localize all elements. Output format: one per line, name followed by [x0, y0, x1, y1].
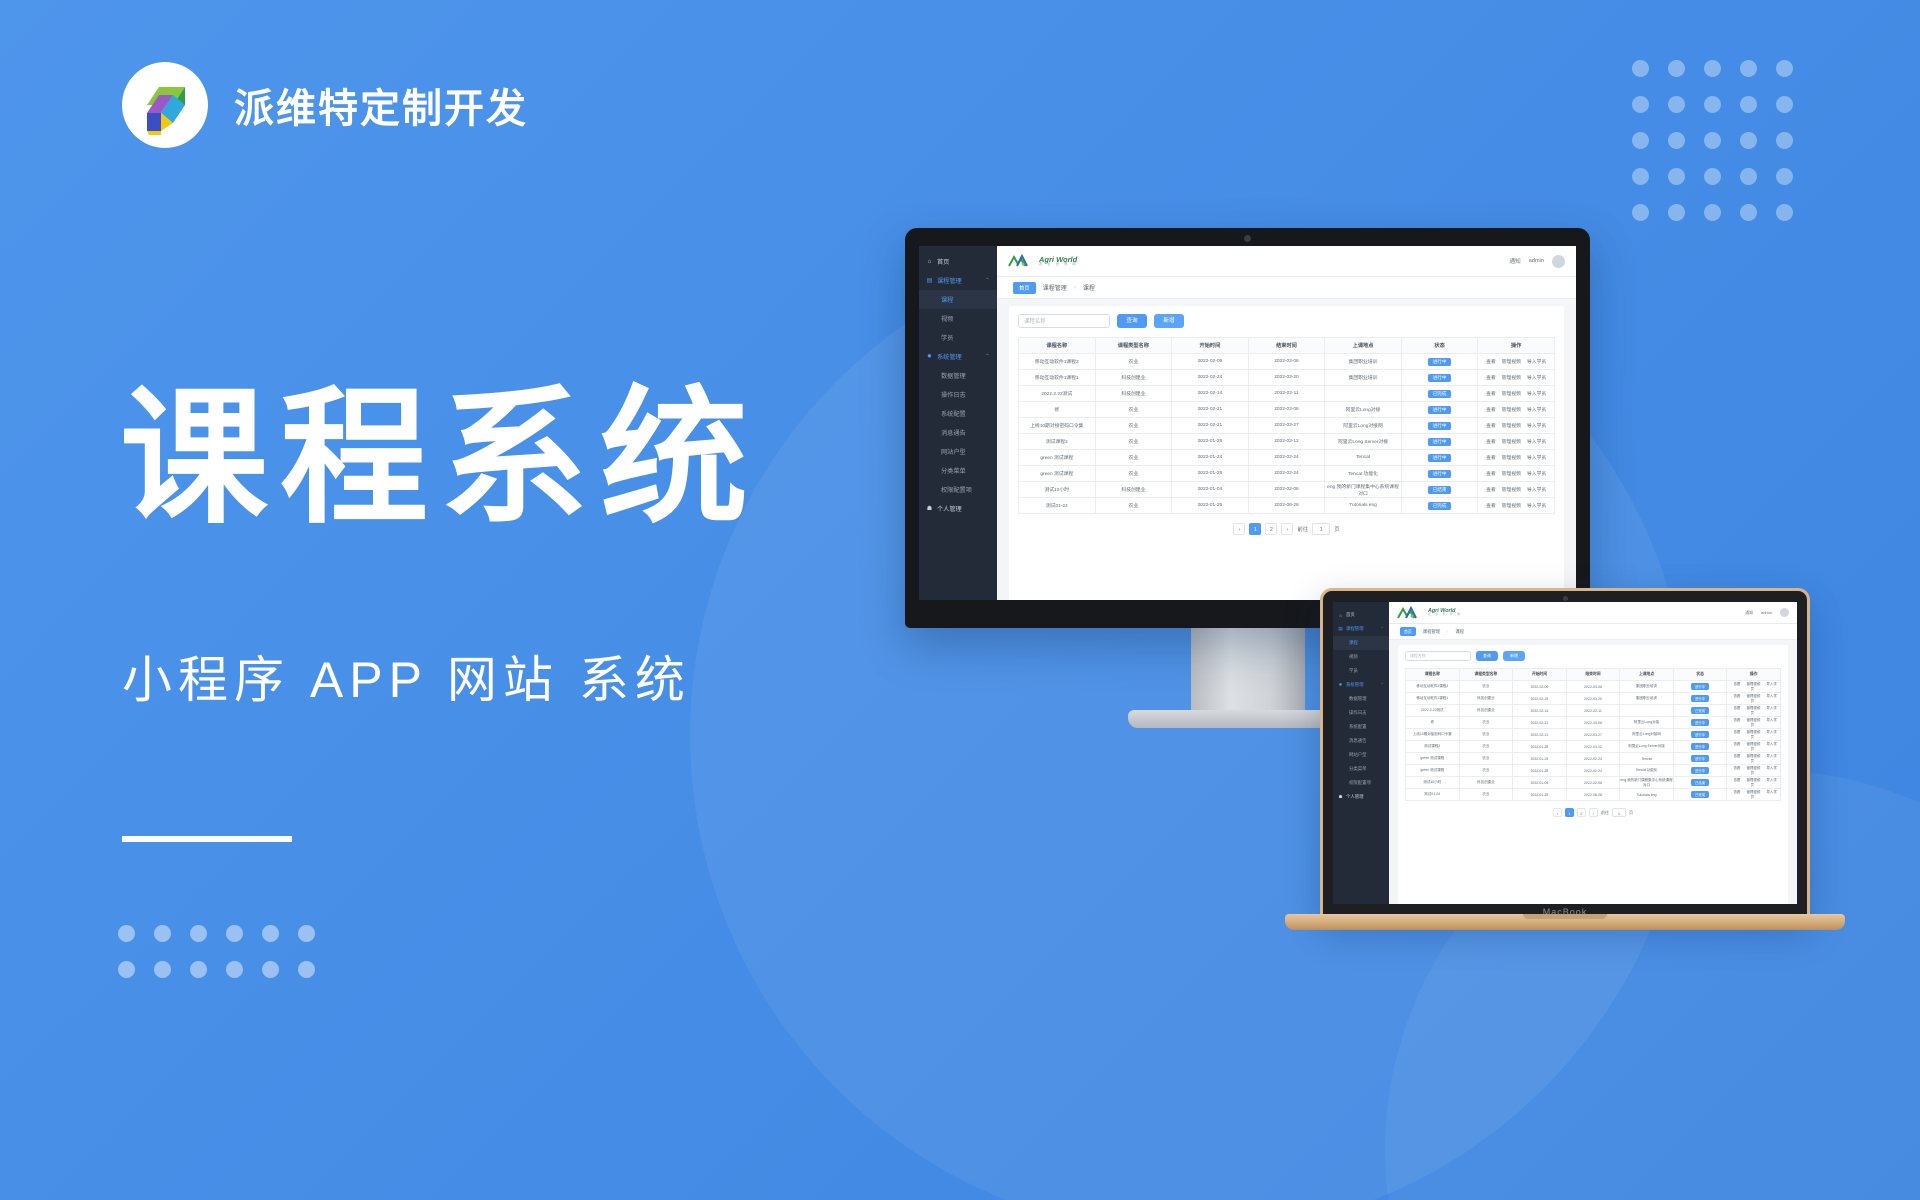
row-action-link[interactable]: 查看 — [1486, 360, 1496, 365]
cell-course-type[interactable]: 农业 — [1095, 402, 1172, 418]
cell-course-name[interactable]: 上线10期对接密码口令集 — [1406, 729, 1460, 741]
cell-status: 进行中 — [1401, 418, 1478, 434]
breadcrumb-parent[interactable]: 课程管理 — [1043, 283, 1067, 292]
cell-end-time: 2022-03-20 — [1248, 370, 1325, 386]
cell-end-time: 2022-03-12 — [1248, 434, 1325, 450]
row-action-link[interactable]: 查看 — [1486, 504, 1496, 509]
pagination-prev-icon[interactable]: ‹ — [1233, 523, 1245, 535]
cell-operations: 查看管理视频导入学员 — [1478, 402, 1555, 418]
decorative-dot — [118, 961, 135, 978]
cell-course-name[interactable]: 移动互动软件1课程2 — [1406, 681, 1460, 693]
sidebar-item-8[interactable]: 系统配置 — [919, 404, 997, 423]
cell-course-name[interactable]: 2022.2.22测试 — [1406, 705, 1460, 717]
cell-course-name[interactable]: 测试课程2 — [1019, 434, 1096, 450]
cell-course-name[interactable]: green 测试课程 — [1406, 765, 1460, 777]
decorative-dot — [118, 925, 135, 942]
row-action-link[interactable]: 查看 — [1486, 424, 1496, 429]
cell-course-name[interactable]: green 测试课程 — [1406, 753, 1460, 765]
cell-start-time: 2022-02-24 — [1172, 370, 1249, 386]
sidebar-item-12[interactable]: 权限配置项 — [919, 480, 997, 499]
cell-start-time: 2022-02-09 — [1172, 354, 1249, 370]
pagination-next-icon[interactable]: › — [1281, 523, 1293, 535]
decorative-dot — [1632, 132, 1649, 149]
pagination-page-1[interactable]: 1 — [1565, 808, 1574, 817]
sidebar-item-9[interactable]: 消息通告 — [1333, 734, 1389, 748]
row-action-link[interactable]: 查看 — [1733, 742, 1740, 746]
row-action-link[interactable]: 管理视频 — [1746, 718, 1760, 722]
cell-start-time: 2022-02-21 — [1513, 729, 1567, 741]
brand-lockup: 派维特定制开发 — [122, 62, 528, 148]
sidebar-item-label: 视频 — [1349, 654, 1358, 660]
cell-course-name[interactable]: green 测试课程 — [1019, 450, 1096, 466]
row-action-link[interactable]: 管理视频 — [1502, 408, 1521, 413]
cell-course-type[interactable]: 科技创建业 — [1459, 693, 1513, 705]
decorative-dot — [1632, 168, 1649, 185]
cell-course-type[interactable]: 农业 — [1095, 450, 1172, 466]
decorative-dot — [298, 925, 315, 942]
cell-status: 进行中 — [1673, 753, 1727, 765]
search-button[interactable]: 查询 — [1476, 651, 1498, 661]
pivot-play-logo-icon — [122, 62, 208, 148]
decorative-dot — [1668, 168, 1685, 185]
row-action-link[interactable]: 查看 — [1486, 392, 1496, 397]
row-action-link[interactable]: 导入学员 — [1527, 360, 1546, 365]
cell-course-name[interactable]: 2022.2.22测试 — [1019, 386, 1096, 402]
row-action-link[interactable]: 管理视频 — [1502, 440, 1521, 445]
breadcrumb-parent[interactable]: 课程管理 — [1423, 629, 1440, 635]
content-card: 课程名称查询新增课程名称课程类型名称开始时间结束时间上课地点状态操作移动互动软件… — [1009, 306, 1564, 600]
course-table: 课程名称课程类型名称开始时间结束时间上课地点状态操作移动互动软件1课程2农业20… — [1405, 668, 1781, 801]
cell-course-type[interactable]: 农业 — [1459, 765, 1513, 777]
sidebar-item-label: 分类菜单 — [941, 466, 966, 475]
chevron-up-icon[interactable]: ⌃ — [1380, 626, 1384, 632]
pagination: ‹12›前往1页 — [1018, 523, 1555, 535]
search-input-text: 课程名称 — [1410, 653, 1426, 659]
search-input[interactable]: 课程名称 — [1018, 314, 1110, 328]
filter-bar: 课程名称查询新增 — [1018, 314, 1555, 328]
cell-end-time: 2022-06-28 — [1566, 789, 1620, 801]
row-action-link[interactable]: 管理视频 — [1502, 456, 1521, 461]
gear-icon: ✸ — [926, 353, 933, 360]
sidebar-item-label: 系统配置 — [1349, 724, 1367, 730]
notice-label[interactable]: 通知 — [1745, 610, 1753, 616]
breadcrumb-current: 课程 — [1083, 283, 1095, 292]
cell-course-name[interactable]: 测试课程2 — [1406, 741, 1460, 753]
status-badge: 进行中 — [1428, 422, 1452, 430]
desktop-monitor-mockup: ⌂首页▤课程管理⌃课程视频学员✸系统管理⌃数据管理操作日志系统配置消息通告网站户… — [905, 228, 1590, 628]
row-action-link[interactable]: 查看 — [1486, 488, 1496, 493]
user-avatar-icon[interactable] — [1780, 608, 1789, 617]
status-badge: 进行中 — [1691, 683, 1709, 690]
pagination: ‹12›前往1页 — [1405, 808, 1781, 817]
sidebar-item-0[interactable]: ⌂首页 — [1333, 608, 1389, 622]
cell-place: 阿里云Long对接网 — [1620, 729, 1674, 741]
cell-place: Tencat 功能化 — [1325, 466, 1402, 482]
cell-operations: 查看管理视频导入学员 — [1478, 450, 1555, 466]
user-label[interactable]: admin — [1529, 258, 1544, 264]
cell-place: 集团职业培训 — [1620, 693, 1674, 705]
status-badge: 进行中 — [1691, 695, 1709, 702]
cell-status: 已完成 — [1673, 789, 1727, 801]
decorative-dot — [1704, 96, 1721, 113]
sidebar-item-label: 学员 — [1349, 668, 1358, 674]
cell-operations: 查看管理视频导入学员 — [1478, 466, 1555, 482]
sidebar-item-2[interactable]: 课程 — [1333, 636, 1389, 650]
add-button[interactable]: 新增 — [1154, 314, 1184, 328]
course-table: 课程名称课程类型名称开始时间结束时间上课地点状态操作移动互动软件1课程2农业20… — [1018, 337, 1555, 514]
table-row: 测试01-24农业2022-01-252022-06-28Tutorials e… — [1019, 498, 1555, 514]
cell-course-name[interactable]: 移动互动软件1课程1 — [1019, 370, 1096, 386]
cell-course-name[interactable]: 上线10期对接密码口令集 — [1019, 418, 1096, 434]
cell-operations: 查看管理视频导入学员 — [1727, 729, 1781, 741]
table-row: 2022.2.22测试科技创建业2022-02-142022-02-11已完成查… — [1019, 386, 1555, 402]
cell-course-type[interactable]: 科技创建业 — [1095, 482, 1172, 498]
cell-status: 进行中 — [1673, 693, 1727, 705]
decorative-dot — [262, 925, 279, 942]
chevron-up-icon[interactable]: ⌃ — [985, 353, 990, 360]
table-row: 测试课程2农业2022-01-282022-03-12阿里云Long Serve… — [1019, 434, 1555, 450]
cell-course-name[interactable]: 修 — [1406, 717, 1460, 729]
app-logo-cn: 农 业 世 界 网 — [1039, 263, 1078, 266]
cell-course-type[interactable]: 农业 — [1459, 729, 1513, 741]
row-action-link[interactable]: 导入学员 — [1527, 424, 1546, 429]
sidebar-item-4[interactable]: 学员 — [919, 328, 997, 347]
table-row: 上线10期对接密码口令集农业2022-02-212022-03-27阿里云Lon… — [1406, 729, 1781, 741]
cell-course-name[interactable]: 测试10小时 — [1406, 777, 1460, 789]
sidebar-item-label: 分类菜单 — [1349, 766, 1367, 772]
row-action-link[interactable]: 导入学员 — [1527, 472, 1546, 477]
row-action-link[interactable]: 查看 — [1733, 778, 1740, 782]
notice-label[interactable]: 通知 — [1510, 257, 1521, 265]
cell-operations: 查看管理视频导入学员 — [1478, 386, 1555, 402]
decorative-dot — [154, 961, 171, 978]
cell-place: 阿里云Long Server对接 — [1620, 741, 1674, 753]
page-subtitle: 小程序 APP 网站 系统 — [122, 640, 691, 712]
row-action-link[interactable]: 导入学员 — [1527, 408, 1546, 413]
row-action-link[interactable]: 管理视频 — [1502, 488, 1521, 493]
cell-start-time: 2022-02-14 — [1172, 386, 1249, 402]
cell-operations: 查看管理视频导入学员 — [1478, 354, 1555, 370]
cell-operations: 查看管理视频导入学员 — [1727, 777, 1781, 789]
sidebar-item-13[interactable]: ☗个人管理 — [919, 499, 997, 518]
sidebar-item-0[interactable]: ⌂首页 — [919, 252, 997, 271]
table-column-header: 状态 — [1401, 338, 1478, 354]
sidebar-item-11[interactable]: 分类菜单 — [919, 461, 997, 480]
cell-course-type[interactable]: 农业 — [1459, 753, 1513, 765]
row-action-link[interactable]: 管理视频 — [1502, 424, 1521, 429]
cell-place: 集团职业培训 — [1325, 354, 1402, 370]
cell-status: 已结束 — [1401, 482, 1478, 498]
cell-operations: 查看管理视频导入学员 — [1727, 693, 1781, 705]
cell-place: eng 我的新门课程集中心系统课程对口 — [1620, 777, 1674, 789]
row-action-link[interactable]: 查看 — [1486, 376, 1496, 381]
table-column-header: 开始时间 — [1172, 338, 1249, 354]
pagination-page-2[interactable]: 2 — [1577, 808, 1586, 817]
cell-place — [1620, 705, 1674, 717]
sidebar-item-label: 系统管理 — [1346, 682, 1364, 688]
monitor-screen: ⌂首页▤课程管理⌃课程视频学员✸系统管理⌃数据管理操作日志系统配置消息通告网站户… — [919, 246, 1576, 600]
laptop-mockup: ⌂首页▤课程管理⌃课程视频学员✸系统管理⌃数据管理操作日志系统配置消息通告网站户… — [1285, 588, 1845, 948]
pagination-next-icon[interactable]: › — [1589, 808, 1598, 817]
cell-start-time: 2022-01-24 — [1172, 450, 1249, 466]
app-sidebar: ⌂首页▤课程管理⌃课程视频学员✸系统管理⌃数据管理操作日志系统配置消息通告网站户… — [1333, 602, 1389, 904]
breadcrumb-home-tag[interactable]: 首页 — [1400, 627, 1416, 636]
table-column-header: 结束时间 — [1248, 338, 1325, 354]
cell-status: 进行中 — [1673, 717, 1727, 729]
row-action-link[interactable]: 管理视频 — [1746, 778, 1760, 782]
cell-course-type[interactable]: 农业 — [1095, 418, 1172, 434]
cell-place: 阿里云Long对接网 — [1325, 418, 1402, 434]
row-action-link[interactable]: 查看 — [1733, 706, 1740, 710]
pagination-goto-label: 前往 — [1601, 810, 1609, 816]
row-action-link[interactable]: 管理视频 — [1746, 790, 1760, 794]
cell-status: 已结束 — [1673, 777, 1727, 789]
row-action-link[interactable]: 管理视频 — [1502, 376, 1521, 381]
row-action-link[interactable]: 查看 — [1733, 790, 1740, 794]
table-header-row: 课程名称课程类型名称开始时间结束时间上课地点状态操作 — [1019, 338, 1555, 354]
cell-operations: 查看管理视频导入学员 — [1478, 418, 1555, 434]
cell-course-type[interactable]: 农业 — [1459, 681, 1513, 693]
table-row: 2022.2.22测试科技创建业2022-02-142022-02-11已完成查… — [1406, 705, 1781, 717]
cell-operations: 查看管理视频导入学员 — [1727, 789, 1781, 801]
pagination-goto-suffix: 页 — [1629, 810, 1633, 816]
cell-status: 进行中 — [1401, 434, 1478, 450]
laptop-notch — [1523, 914, 1607, 919]
cell-course-type[interactable]: 农业 — [1459, 717, 1513, 729]
status-badge: 进行中 — [1428, 374, 1452, 382]
sidebar-item-11[interactable]: 分类菜单 — [1333, 762, 1389, 776]
row-action-link[interactable]: 查看 — [1733, 682, 1740, 686]
row-action-link[interactable]: 导入学员 — [1527, 376, 1546, 381]
sidebar-item-5[interactable]: ✸系统管理⌃ — [919, 347, 997, 366]
row-action-link[interactable]: 查看 — [1486, 408, 1496, 413]
row-action-link[interactable]: 查看 — [1486, 440, 1496, 445]
app-main: Agri World农 业 世 界 网通知admin首页课程管理›课程课程名称查… — [1389, 602, 1797, 904]
sidebar-item-10[interactable]: 网站户型 — [1333, 748, 1389, 762]
sidebar-item-label: 个人管理 — [1346, 794, 1364, 800]
cell-end-time: 2022-02-06 — [1566, 777, 1620, 789]
row-action-link[interactable]: 管理视频 — [1502, 472, 1521, 477]
user-avatar-icon[interactable] — [1552, 255, 1565, 268]
add-button[interactable]: 新增 — [1503, 651, 1525, 661]
row-action-link[interactable]: 查看 — [1733, 766, 1740, 770]
cell-operations: 查看管理视频导入学员 — [1478, 434, 1555, 450]
decorative-dot — [1740, 96, 1757, 113]
row-action-link[interactable]: 查看 — [1733, 718, 1740, 722]
cell-course-name[interactable]: green 测试课程 — [1019, 466, 1096, 482]
pagination-page-1[interactable]: 1 — [1249, 523, 1261, 535]
table-row: 移动互动软件1课程2农业2022-02-092022-03-06集团职业培训进行… — [1406, 681, 1781, 693]
gear-icon: ✸ — [1338, 683, 1343, 688]
table-row: green 测试课程农业2022-01-282022-02-24Tencat 功… — [1019, 466, 1555, 482]
cell-course-type[interactable]: 科技创建业 — [1095, 370, 1172, 386]
row-action-link[interactable]: 查看 — [1733, 694, 1740, 698]
decorative-dot — [190, 925, 207, 942]
row-action-link[interactable]: 导入学员 — [1527, 488, 1546, 493]
pagination-goto-input[interactable]: 1 — [1612, 808, 1626, 817]
sidebar-item-label: 个人管理 — [937, 504, 962, 513]
row-action-link[interactable]: 管理视频 — [1746, 742, 1760, 746]
sidebar-item-10[interactable]: 网站户型 — [919, 442, 997, 461]
sidebar-item-2[interactable]: 课程 — [919, 290, 997, 309]
sidebar-item-8[interactable]: 系统配置 — [1333, 720, 1389, 734]
row-action-link[interactable]: 管理视频 — [1746, 730, 1760, 734]
sidebar-item-7[interactable]: 操作日志 — [919, 385, 997, 404]
sidebar-item-5[interactable]: ✸系统管理⌃ — [1333, 678, 1389, 692]
cell-start-time: 2022-02-09 — [1513, 681, 1567, 693]
row-action-link[interactable]: 管理视频 — [1746, 682, 1760, 686]
table-column-header: 上课地点 — [1325, 338, 1402, 354]
row-action-link[interactable]: 管理视频 — [1502, 360, 1521, 365]
breadcrumb-home-tag[interactable]: 首页 — [1013, 282, 1036, 294]
row-action-link[interactable]: 管理视频 — [1746, 706, 1760, 710]
sidebar-item-3[interactable]: 视频 — [919, 309, 997, 328]
cell-place: 阿里云Long对接 — [1325, 402, 1402, 418]
cell-place: eng 我的新门课程集中心系统课程对口 — [1325, 482, 1402, 498]
cell-course-name[interactable]: 移动互动软件1课程2 — [1019, 354, 1096, 370]
row-action-link[interactable]: 管理视频 — [1502, 392, 1521, 397]
row-action-link[interactable]: 导入学员 — [1527, 440, 1546, 445]
row-action-link[interactable]: 查看 — [1733, 754, 1740, 758]
sidebar-item-6[interactable]: 数据管理 — [919, 366, 997, 385]
row-action-link[interactable]: 查看 — [1733, 730, 1740, 734]
cell-course-name[interactable]: 移动互动软件1课程1 — [1406, 693, 1460, 705]
sidebar-item-label: 学员 — [941, 333, 953, 342]
cell-place: 阿里云Long Server对接 — [1325, 434, 1402, 450]
cell-course-name[interactable]: 测试01-24 — [1019, 498, 1096, 514]
decorative-dot — [1668, 60, 1685, 77]
filter-bar: 课程名称查询新增 — [1405, 651, 1781, 661]
table-column-header: 上课地点 — [1620, 669, 1674, 681]
row-action-link[interactable]: 管理视频 — [1502, 504, 1521, 509]
sidebar-item-1[interactable]: ▤课程管理⌃ — [1333, 622, 1389, 636]
cell-place: Tencat — [1620, 753, 1674, 765]
chevron-right-icon: › — [1074, 285, 1076, 291]
table-column-header: 操作 — [1727, 669, 1781, 681]
app-topbar: Agri World农 业 世 界 网通知admin — [1389, 602, 1797, 624]
sidebar-item-label: 课程 — [1349, 640, 1358, 646]
row-action-link[interactable]: 查看 — [1486, 456, 1496, 461]
app-main: Agri World农 业 世 界 网通知admin首页课程管理›课程课程名称查… — [997, 246, 1576, 600]
row-action-link[interactable]: 管理视频 — [1746, 766, 1760, 770]
pagination-page-2[interactable]: 2 — [1265, 523, 1277, 535]
admin-app-desktop: ⌂首页▤课程管理⌃课程视频学员✸系统管理⌃数据管理操作日志系统配置消息通告网站户… — [919, 246, 1576, 600]
row-action-link[interactable]: 导入学员 — [1527, 392, 1546, 397]
cell-start-time: 2022-01-25 — [1172, 498, 1249, 514]
table-column-header: 结束时间 — [1566, 669, 1620, 681]
cell-course-name[interactable]: 修 — [1019, 402, 1096, 418]
cell-start-time: 2022-01-28 — [1513, 741, 1567, 753]
cell-course-type[interactable]: 科技创建业 — [1459, 777, 1513, 789]
decorative-dot — [1704, 204, 1721, 221]
row-action-link[interactable]: 查看 — [1486, 472, 1496, 477]
pagination-prev-icon[interactable]: ‹ — [1553, 808, 1562, 817]
book-icon: ▤ — [926, 277, 933, 284]
cell-place — [1325, 386, 1402, 402]
agri-world-mark-icon — [1008, 254, 1034, 268]
decorative-dot — [1740, 60, 1757, 77]
cell-place: Tencat — [1325, 450, 1402, 466]
user-icon: ☗ — [926, 505, 933, 512]
cell-course-type[interactable]: 农业 — [1095, 354, 1172, 370]
row-action-link[interactable]: 导入学员 — [1527, 456, 1546, 461]
cell-course-type[interactable]: 农业 — [1095, 466, 1172, 482]
user-label[interactable]: admin — [1761, 610, 1772, 615]
user-icon: ☗ — [1338, 795, 1343, 800]
cell-course-type[interactable]: 科技创建业 — [1459, 705, 1513, 717]
cell-status: 进行中 — [1673, 765, 1727, 777]
table-row: 测试课程2农业2022-01-282022-03-12阿里云Long Serve… — [1406, 741, 1781, 753]
cell-course-type[interactable]: 农业 — [1459, 789, 1513, 801]
cell-status: 进行中 — [1401, 402, 1478, 418]
cell-course-type[interactable]: 农业 — [1459, 741, 1513, 753]
sidebar-item-13[interactable]: ☗个人管理 — [1333, 790, 1389, 804]
app-logo: Agri World农 业 世 界 网 — [1008, 254, 1078, 268]
cell-start-time: 2022-01-24 — [1513, 753, 1567, 765]
breadcrumb: 首页课程管理›课程 — [1389, 624, 1797, 640]
sidebar-item-6[interactable]: 数据管理 — [1333, 692, 1389, 706]
sidebar-item-4[interactable]: 学员 — [1333, 664, 1389, 678]
sidebar-item-label: 数据管理 — [1349, 696, 1367, 702]
cell-status: 已完成 — [1401, 386, 1478, 402]
row-action-link[interactable]: 管理视频 — [1746, 694, 1760, 698]
cell-course-name[interactable]: 测试01-24 — [1406, 789, 1460, 801]
app-topbar: Agri World农 业 世 界 网通知admin — [997, 246, 1576, 277]
decorative-dot — [1704, 60, 1721, 77]
sidebar-item-label: 系统配置 — [941, 409, 966, 418]
sidebar-item-label: 课程管理 — [1346, 626, 1364, 632]
agri-world-mark-icon — [1397, 606, 1423, 620]
chevron-up-icon[interactable]: ⌃ — [985, 277, 990, 284]
cell-operations: 查看管理视频导入学员 — [1478, 482, 1555, 498]
sidebar-item-label: 权限配置项 — [1349, 780, 1371, 786]
status-badge: 进行中 — [1691, 719, 1709, 726]
status-badge: 进行中 — [1691, 731, 1709, 738]
search-input[interactable]: 课程名称 — [1405, 651, 1471, 661]
laptop-camera-icon — [1563, 596, 1568, 601]
table-row: green 测试课程农业2022-01-242022-02-24Tencat进行… — [1019, 450, 1555, 466]
cell-status: 进行中 — [1401, 450, 1478, 466]
chevron-up-icon[interactable]: ⌃ — [1380, 682, 1384, 688]
row-action-link[interactable]: 导入学员 — [1527, 504, 1546, 509]
cell-place: Tencat 功能化 — [1620, 765, 1674, 777]
cell-place: Tutorials eng — [1620, 789, 1674, 801]
cell-course-type[interactable]: 农业 — [1095, 498, 1172, 514]
sidebar-item-12[interactable]: 权限配置项 — [1333, 776, 1389, 790]
topbar-right: 通知admin — [1510, 255, 1565, 268]
sidebar-item-3[interactable]: 视频 — [1333, 650, 1389, 664]
table-column-header: 课程名称 — [1019, 338, 1096, 354]
cell-course-type[interactable]: 农业 — [1095, 434, 1172, 450]
table-row: 测试01-24农业2022-01-252022-06-28Tutorials e… — [1406, 789, 1781, 801]
row-action-link[interactable]: 管理视频 — [1746, 754, 1760, 758]
cell-course-name[interactable]: 测试10小时 — [1019, 482, 1096, 498]
pagination-goto-input[interactable]: 1 — [1312, 523, 1330, 535]
table-row: 上线10期对接密码口令集农业2022-02-212022-03-27阿里云Lon… — [1019, 418, 1555, 434]
sidebar-item-1[interactable]: ▤课程管理⌃ — [919, 271, 997, 290]
cell-end-time: 2022-02-06 — [1248, 482, 1325, 498]
sidebar-item-7[interactable]: 操作日志 — [1333, 706, 1389, 720]
sidebar-item-9[interactable]: 消息通告 — [919, 423, 997, 442]
cell-end-time: 2022-03-12 — [1566, 741, 1620, 753]
cell-course-type[interactable]: 科技创建业 — [1095, 386, 1172, 402]
status-badge: 进行中 — [1691, 767, 1709, 774]
cell-end-time: 2022-06-28 — [1248, 498, 1325, 514]
table-column-header: 操作 — [1478, 338, 1555, 354]
search-button[interactable]: 查询 — [1117, 314, 1147, 328]
sidebar-item-label: 首页 — [937, 257, 949, 266]
home-icon: ⌂ — [926, 258, 933, 265]
